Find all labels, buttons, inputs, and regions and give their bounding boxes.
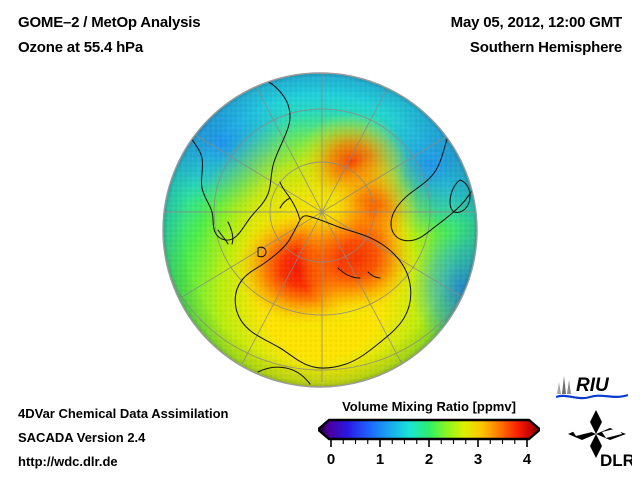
colorbar-title: Volume Mixing Ratio [ppmv] [318, 399, 540, 415]
header-right: May 05, 2012, 12:00 GMT Southern Hemisph… [451, 10, 622, 60]
riu-logo: RIU [556, 372, 628, 407]
dlr-wordmark: DLR [600, 451, 632, 470]
ozone-map-globe [162, 72, 478, 388]
globe-svg [162, 72, 478, 388]
riu-logo-svg: RIU [556, 372, 628, 402]
riu-tower-icon [557, 376, 571, 394]
header-left: GOME–2 / MetOp Analysis Ozone at 55.4 hP… [18, 10, 200, 60]
dlr-logo: DLR [566, 408, 632, 475]
dataset-title: GOME–2 / MetOp Analysis [18, 10, 200, 35]
colorbar-svg: 01234 [318, 418, 540, 474]
colorbar-block: Volume Mixing Ratio [ppmv] 01234 [318, 399, 540, 474]
version-label: SACADA Version 2.4 [18, 426, 229, 450]
svg-text:1: 1 [376, 451, 384, 468]
figure-canvas: GOME–2 / MetOp Analysis Ozone at 55.4 hP… [0, 0, 640, 480]
limb-shading [163, 73, 477, 387]
svg-text:3: 3 [474, 451, 482, 468]
svg-text:2: 2 [425, 451, 433, 468]
timestamp-label: May 05, 2012, 12:00 GMT [451, 10, 622, 35]
colorbar-tick-labels: 01234 [327, 451, 532, 468]
dlr-logo-svg: DLR [566, 408, 632, 470]
riu-wordmark: RIU [576, 375, 610, 396]
coastline-africa-east [463, 120, 478, 176]
coastline-newzealand [394, 372, 406, 388]
variable-level-title: Ozone at 55.4 hPa [18, 35, 200, 60]
method-label: 4DVar Chemical Data Assimilation [18, 402, 229, 426]
svg-text:4: 4 [523, 451, 532, 468]
colorbar-ticks [331, 439, 527, 447]
svg-text:0: 0 [327, 451, 335, 468]
footer-credits: 4DVar Chemical Data Assimilation SACADA … [18, 402, 229, 474]
hemisphere-label: Southern Hemisphere [451, 35, 622, 60]
url-label[interactable]: http://wdc.dlr.de [18, 450, 229, 474]
